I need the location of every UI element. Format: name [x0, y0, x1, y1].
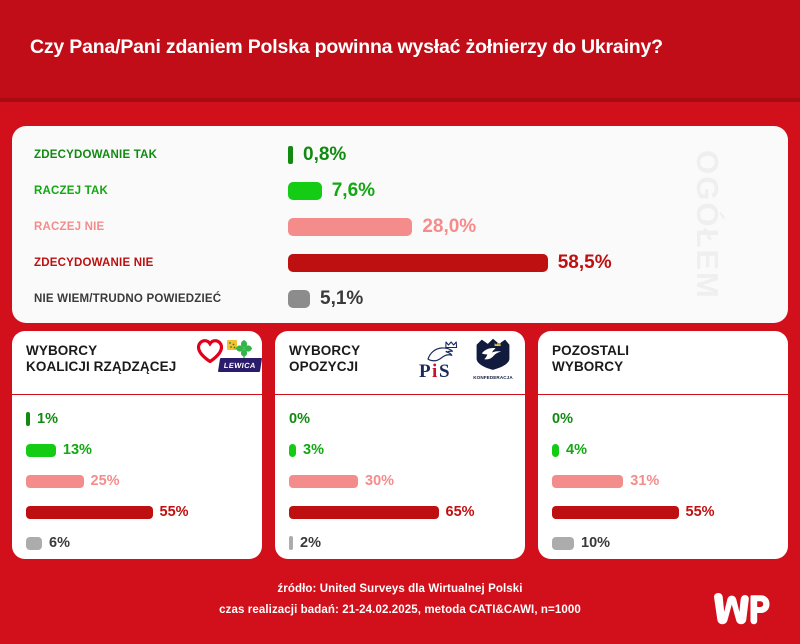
footer-bar: źródło: United Surveys dla Wirtualnej Po… — [0, 566, 800, 644]
overall-row-value: 0,8% — [303, 144, 346, 166]
segment-panel-body: 0%3%30%65%2% — [275, 395, 525, 559]
segment-row: 2% — [275, 527, 525, 559]
header-bar: Czy Pana/Pani zdaniem Polska powinna wys… — [0, 0, 800, 98]
konfederacja-wordmark: KONFEDERACJA — [471, 375, 515, 380]
overall-row-bar-group: 58,5% — [288, 252, 612, 274]
overall-row-label: ZDECYDOWANIE NIE — [34, 257, 154, 269]
segment-row-bar — [552, 506, 679, 519]
segment-row-value: 25% — [91, 473, 120, 489]
segment-panel: WYBORCY KOALICJI RZĄDZĄCEJLEWICA1%13%25%… — [12, 331, 262, 559]
segment-row-bar — [552, 537, 574, 550]
segment-row-value: 0% — [289, 411, 310, 427]
segment-row-value: 30% — [365, 473, 394, 489]
overall-row: ZDECYDOWANIE NIE58,5% — [12, 243, 788, 282]
segment-row-bar-group: 10% — [552, 535, 610, 551]
overall-row-bar-group: 0,8% — [288, 144, 346, 166]
segment-row: 4% — [538, 434, 788, 466]
segment-row: 25% — [12, 465, 262, 497]
segment-row-bar-group: 13% — [26, 442, 92, 458]
segment-row-bar-group: 6% — [26, 535, 70, 551]
segment-row-value: 4% — [566, 442, 587, 458]
segment-row: 0% — [538, 403, 788, 435]
lewica-logo: LEWICA — [218, 358, 262, 372]
segment-row-value: 10% — [581, 535, 610, 551]
segment-row-bar-group: 0% — [552, 411, 573, 427]
overall-row-bar — [288, 218, 412, 236]
segment-row: 55% — [538, 496, 788, 528]
overall-row-bar-group: 7,6% — [288, 180, 375, 202]
overall-row-value: 58,5% — [558, 252, 612, 274]
overall-row-value: 7,6% — [332, 180, 375, 202]
segment-row: 3% — [275, 434, 525, 466]
header-divider — [0, 98, 800, 102]
footer-source-line: źródło: United Surveys dla Wirtualnej Po… — [0, 583, 800, 595]
segment-row-bar — [289, 444, 296, 457]
party-logo-group: PiSKONFEDERACJA — [416, 337, 515, 387]
svg-text:S: S — [439, 361, 450, 381]
segment-row: 55% — [12, 496, 262, 528]
konfederacja-logo: KONFEDERACJA — [471, 337, 515, 381]
segment-row-bar-group: 65% — [289, 504, 475, 520]
segment-row: 10% — [538, 527, 788, 559]
overall-row-bar-group: 5,1% — [288, 288, 363, 310]
segment-panel: POZOSTALI WYBORCY0%4%31%55%10% — [538, 331, 788, 559]
overall-row-label: ZDECYDOWANIE TAK — [34, 149, 157, 161]
segment-row-bar-group: 55% — [26, 504, 189, 520]
overall-row: RACZEJ TAK7,6% — [12, 171, 788, 210]
segment-panel-title: POZOSTALI WYBORCY — [552, 343, 629, 375]
svg-text:P: P — [419, 361, 431, 381]
page-title: Czy Pana/Pani zdaniem Polska powinna wys… — [30, 36, 663, 59]
segment-row-value: 2% — [300, 535, 321, 551]
segment-row-bar-group: 31% — [552, 473, 659, 489]
segment-row-bar-group: 2% — [289, 535, 321, 551]
segment-row: 0% — [275, 403, 525, 435]
segment-row-bar-group: 55% — [552, 504, 715, 520]
overall-row-bar — [288, 146, 293, 164]
footer-method-line: czas realizacji badań: 21-24.02.2025, me… — [0, 604, 800, 616]
overall-row-label: RACZEJ TAK — [34, 185, 108, 197]
segment-row-bar — [552, 444, 559, 457]
segment-row-bar — [289, 475, 358, 488]
segment-row-bar — [289, 536, 293, 550]
pis-logo: PiS — [416, 337, 468, 381]
segment-row: 6% — [12, 527, 262, 559]
segment-row-bar — [26, 412, 30, 426]
infographic-root: Czy Pana/Pani zdaniem Polska powinna wys… — [0, 0, 800, 644]
segment-panel-title: WYBORCY OPOZYCJI — [289, 343, 360, 375]
segment-row: 65% — [275, 496, 525, 528]
segment-row: 1% — [12, 403, 262, 435]
segment-panel-header: POZOSTALI WYBORCY — [538, 331, 788, 395]
segment-row-bar — [26, 475, 84, 488]
segment-row-value: 55% — [686, 504, 715, 520]
segment-row-bar — [26, 537, 42, 550]
segment-panel-body: 1%13%25%55%6% — [12, 395, 262, 559]
segment-row-value: 31% — [630, 473, 659, 489]
segment-panel: WYBORCY OPOZYCJIPiSKONFEDERACJA0%3%30%65… — [275, 331, 525, 559]
overall-row-value: 5,1% — [320, 288, 363, 310]
svg-text:i: i — [432, 361, 437, 381]
overall-bar-list: ZDECYDOWANIE TAK0,8%RACZEJ TAK7,6%RACZEJ… — [12, 126, 788, 323]
overall-row: RACZEJ NIE28,0% — [12, 207, 788, 246]
wp-logo — [710, 588, 772, 628]
segment-row-bar — [26, 506, 153, 519]
segment-row-value: 6% — [49, 535, 70, 551]
segment-row-value: 55% — [160, 504, 189, 520]
segment-row-bar-group: 3% — [289, 442, 324, 458]
segment-row-bar-group: 1% — [26, 411, 58, 427]
segment-panel-title: WYBORCY KOALICJI RZĄDZĄCEJ — [26, 343, 176, 375]
overall-row-bar — [288, 254, 548, 272]
overall-row: NIE WIEM/TRUDNO POWIEDZIEĆ5,1% — [12, 279, 788, 318]
segment-row-bar-group: 0% — [289, 411, 310, 427]
segment-row: 30% — [275, 465, 525, 497]
segment-row-bar-group: 25% — [26, 473, 120, 489]
segment-row-bar — [552, 475, 623, 488]
segment-row: 13% — [12, 434, 262, 466]
segment-panel-list: WYBORCY KOALICJI RZĄDZĄCEJLEWICA1%13%25%… — [12, 331, 788, 559]
segment-row-bar — [26, 444, 56, 457]
overall-row-bar-group: 28,0% — [288, 216, 476, 238]
segment-panel-body: 0%4%31%55%10% — [538, 395, 788, 559]
segment-panel-header: WYBORCY KOALICJI RZĄDZĄCEJLEWICA — [12, 331, 262, 395]
overall-row-label: RACZEJ NIE — [34, 221, 104, 233]
segment-panel-header: WYBORCY OPOZYCJIPiSKONFEDERACJA — [275, 331, 525, 395]
segment-row-bar — [289, 506, 439, 519]
segment-row-value: 65% — [446, 504, 475, 520]
segment-row-value: 13% — [63, 442, 92, 458]
overall-row: ZDECYDOWANIE TAK0,8% — [12, 135, 788, 174]
overall-row-label: NIE WIEM/TRUDNO POWIEDZIEĆ — [34, 293, 221, 305]
overall-row-bar — [288, 182, 322, 200]
segment-row: 31% — [538, 465, 788, 497]
overall-row-value: 28,0% — [422, 216, 476, 238]
overall-row-bar — [288, 290, 310, 308]
segment-row-value: 0% — [552, 411, 573, 427]
segment-row-bar-group: 30% — [289, 473, 394, 489]
segment-row-value: 1% — [37, 411, 58, 427]
segment-row-value: 3% — [303, 442, 324, 458]
segment-row-bar-group: 4% — [552, 442, 587, 458]
overall-results-card: OGÓŁEM ZDECYDOWANIE TAK0,8%RACZEJ TAK7,6… — [12, 126, 788, 323]
